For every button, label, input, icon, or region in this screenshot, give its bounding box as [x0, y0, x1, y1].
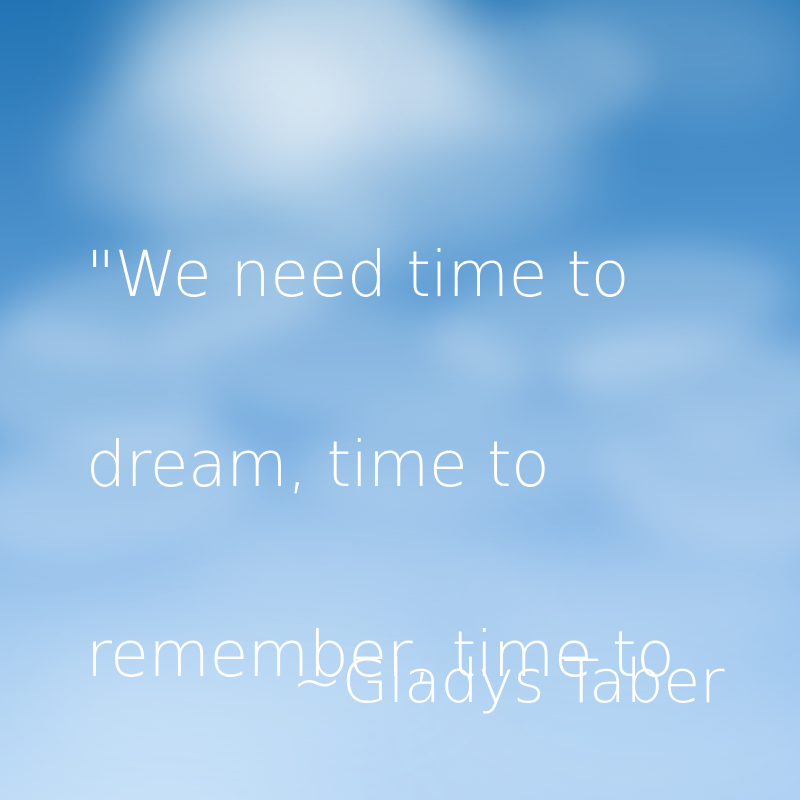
- quote-attribution: ~Gladys Taber: [86, 637, 724, 727]
- quote-card: "We need time to dream, time to remember…: [0, 0, 800, 800]
- text-layer: "We need time to dream, time to remember…: [0, 0, 800, 800]
- quote-line-1: "We need time to: [86, 227, 776, 322]
- quote-line-2: dream, time to: [86, 417, 776, 512]
